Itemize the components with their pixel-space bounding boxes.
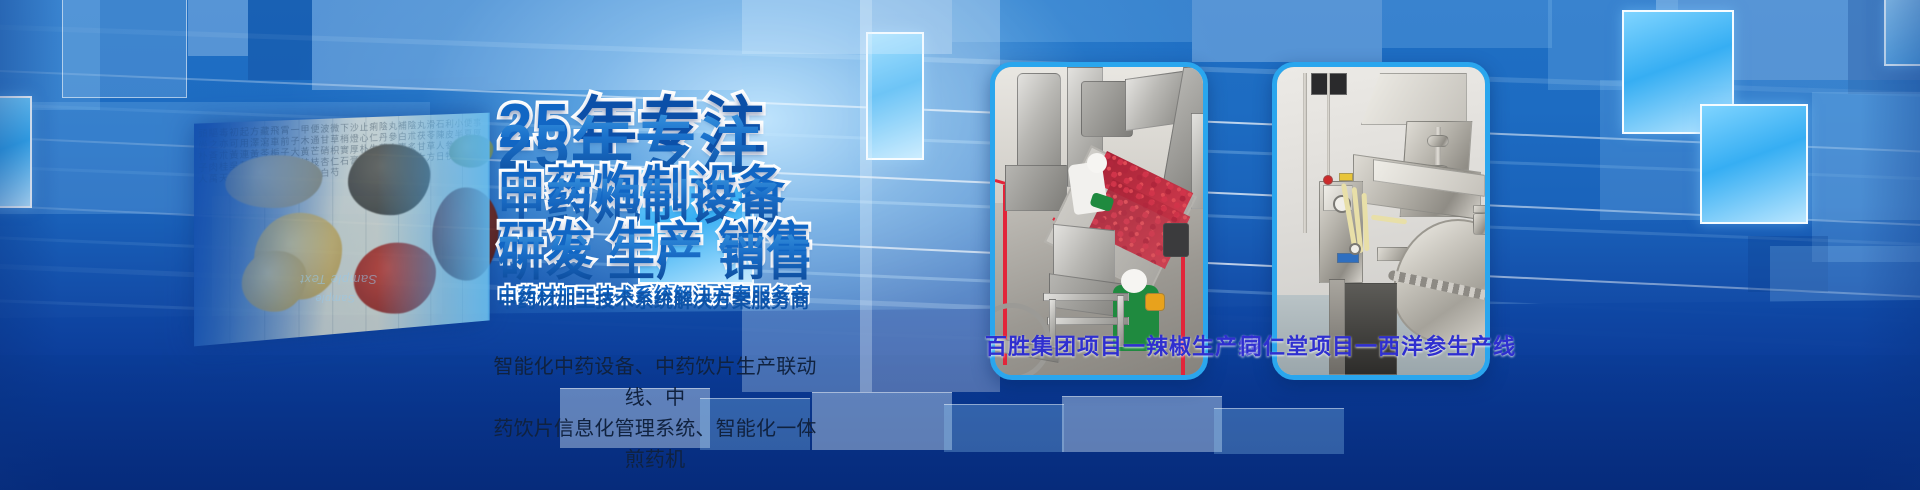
bg-plate: [248, 0, 312, 80]
edge-vignette-left: [0, 0, 60, 490]
edge-vignette-right: [1860, 0, 1920, 490]
bg-glow-panel: [860, 0, 1000, 392]
headline-line-2: 中药炮制设备 中药炮制设备: [498, 164, 798, 224]
bg-slab: [812, 392, 952, 450]
watermark-text-2: Sample: [315, 292, 355, 304]
bg-cube: [1700, 104, 1808, 224]
bg-plate: [1382, 0, 1552, 48]
bg-plate: [1192, 0, 1382, 62]
promo-banner: 頭驅毒初起方藏飛霄一甲便波微下沙止痢陰丸補陰丸滑石利小便事尚之亦可用澤瀉車前子木…: [0, 0, 1920, 490]
description-block: 智能化中药设备、中药饮片生产联动线、中 药饮片信息化管理系统、智能化一体煎药机: [490, 352, 820, 476]
bg-slab: [1214, 408, 1344, 454]
description-line-1: 智能化中药设备、中药饮片生产联动线、中: [490, 352, 820, 414]
headline-line-1: 25年专注 25年专注: [498, 96, 798, 166]
tcm-herbs-collage-image: 頭驅毒初起方藏飛霄一甲便波微下沙止痢陰丸補陰丸滑石利小便事尚之亦可用澤瀉車前子木…: [194, 113, 488, 347]
headline-line-3: 研发 生产 销售 研发 生产 销售: [498, 220, 798, 278]
bg-slab: [944, 404, 1064, 452]
bg-slab: [1062, 396, 1222, 452]
services-line-fill: 研发 生产 销售: [498, 220, 814, 289]
bg-plate: [188, 0, 248, 56]
photo-caption-ginseng: 同仁堂项目一西洋参生产线: [1240, 329, 1516, 361]
tagline-fill: 中药材加工技术系统解决方案服务商: [498, 286, 798, 313]
headline-block: 25年专注 25年专注 中药炮制设备 中药炮制设备 研发 生产 销售 研发 生产…: [498, 96, 798, 313]
photo-caption-chili: 百胜集团项目一辣椒生产线: [985, 329, 1261, 361]
bg-plate: [62, 0, 187, 98]
watermark-text: Sample Text: [300, 272, 377, 287]
bg-plate: [312, 0, 742, 90]
description-line-2: 药饮片信息化管理系统、智能化一体煎药机: [490, 414, 820, 476]
